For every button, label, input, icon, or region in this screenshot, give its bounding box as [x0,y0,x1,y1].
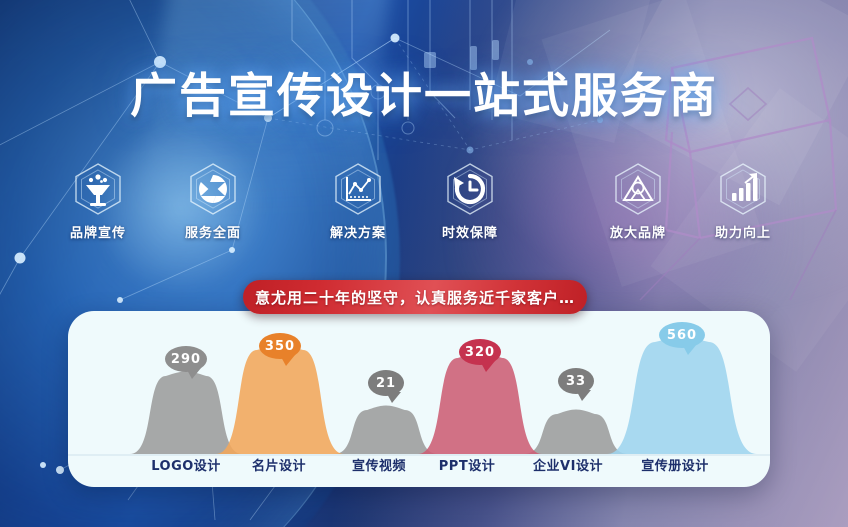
banner-stage: 广告宣传设计一站式服务商 品牌宣传 [0,0,848,527]
feature-label: 放大品牌 [588,222,688,241]
value-bubble[interactable]: 560 [659,322,705,348]
megaphone-icon [48,160,148,218]
triangle-pyramid-icon [588,160,688,218]
bubble-tail [480,361,495,372]
feature-item-service[interactable]: 服务全面 [163,160,263,241]
value-bubble[interactable]: 33 [558,368,594,394]
bubble-tail [682,344,697,355]
feature-label: 解决方案 [308,222,408,241]
bubble-tail [576,390,591,401]
right-light-glow [468,0,848,310]
value-bubble-text: 33 [566,374,586,389]
value-bubble[interactable]: 320 [459,339,501,365]
value-bubble[interactable]: 290 [165,346,207,372]
feature-label: 助力向上 [693,222,793,241]
value-bubble-text: 560 [667,328,697,343]
feature-label: 时效保障 [420,222,520,241]
category-label: 宣传册设计 [615,455,735,474]
category-label: 企业VI设计 [508,455,628,474]
value-bubble[interactable]: 350 [259,333,301,359]
value-bubble-text: 350 [265,339,295,354]
feature-label: 品牌宣传 [48,222,148,241]
feature-item-brand[interactable]: 品牌宣传 [48,160,148,241]
bubble-tail [386,392,401,403]
promo-banner-text: 意尤用二十年的坚守，认真服务近千家客户… [255,287,575,308]
clock-history-icon [420,160,520,218]
bubble-tail [186,368,201,379]
value-bubble-text: 290 [171,352,201,367]
feature-item-growth[interactable]: 助力向上 [693,160,793,241]
feature-item-timeliness[interactable]: 时效保障 [420,160,520,241]
feature-icon-row: 品牌宣传 [0,160,848,250]
aperture-icon [163,160,263,218]
bar-growth-icon [693,160,793,218]
page-title: 广告宣传设计一站式服务商 [0,57,848,126]
value-bubble-text: 320 [465,345,495,360]
bubble-tail [280,355,295,366]
value-bubble[interactable]: 21 [368,370,404,396]
promo-banner[interactable]: 意尤用二十年的坚守，认真服务近千家客户… [243,280,587,314]
bell-curve [334,406,438,455]
feature-label: 服务全面 [163,222,263,241]
feature-item-amplify[interactable]: 放大品牌 [588,160,688,241]
bell-curve [130,372,242,455]
bell-curve [524,410,628,455]
category-label-row: LOGO设计名片设计宣传视频PPT设计企业VI设计宣传册设计 [0,455,848,479]
line-chart-icon [308,160,408,218]
feature-item-solution[interactable]: 解决方案 [308,160,408,241]
value-bubble-text: 21 [376,376,396,391]
